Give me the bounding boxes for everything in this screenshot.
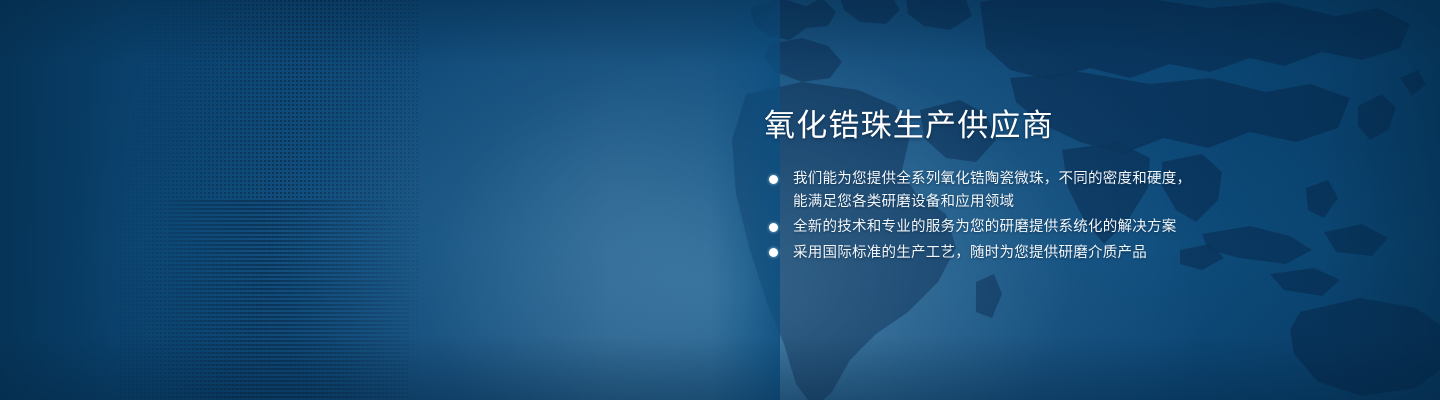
dot-bullet-icon — [769, 175, 778, 184]
feature-text-line-1: 采用国际标准的生产工艺，随时为您提供研磨介质产品 — [793, 245, 1147, 261]
dot-bullet-icon — [769, 223, 778, 232]
list-item: 我们能为您提供全系列氧化锆陶瓷微珠，不同的密度和硬度， 能满足您各类研磨设备和应… — [766, 168, 1236, 213]
page-title: 氧化锆珠生产供应商 — [764, 108, 1054, 145]
list-item: 采用国际标准的生产工艺，随时为您提供研磨介质产品 — [766, 242, 1236, 265]
dot-bullet-icon — [769, 248, 778, 257]
feature-text-line-2: 能满足您各类研磨设备和应用领域 — [793, 191, 1236, 214]
hero-banner: 氧化锆珠生产供应商 我们能为您提供全系列氧化锆陶瓷微珠，不同的密度和硬度， 能满… — [0, 0, 1440, 400]
banner-text-content: 氧化锆珠生产供应商 我们能为您提供全系列氧化锆陶瓷微珠，不同的密度和硬度， 能满… — [764, 0, 1384, 400]
feature-list: 我们能为您提供全系列氧化锆陶瓷微珠，不同的密度和硬度， 能满足您各类研磨设备和应… — [766, 168, 1236, 267]
feature-text-line-1: 全新的技术和专业的服务为您的研磨提供系统化的解决方案 — [793, 219, 1177, 235]
list-item: 全新的技术和专业的服务为您的研磨提供系统化的解决方案 — [766, 216, 1236, 239]
feature-text-line-1: 我们能为您提供全系列氧化锆陶瓷微珠，不同的密度和硬度， — [793, 171, 1191, 187]
